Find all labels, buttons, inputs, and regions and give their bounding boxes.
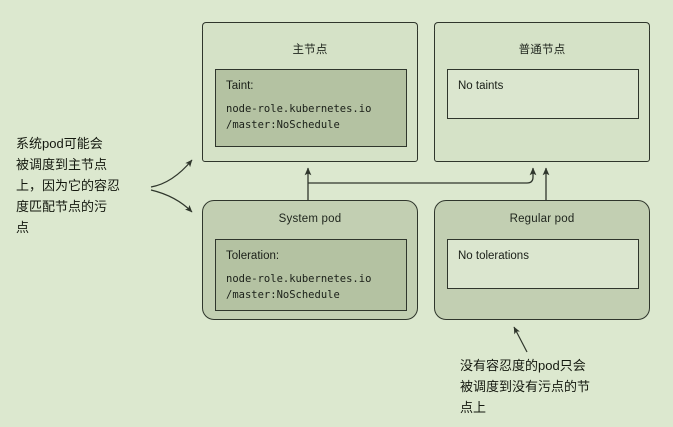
arrow-left-note-to-system-pod [151, 190, 192, 212]
taint-label: Taint: [226, 79, 396, 94]
regular-pod-title: Regular pod [435, 213, 649, 225]
toleration-value: node-role.kubernetes.io /master:NoSchedu… [226, 271, 396, 303]
regular-pod-tolerations-text: No tolerations [458, 249, 628, 264]
bottom-annotation: 没有容忍度的pod只会 被调度到没有污点的节 点上 [460, 355, 670, 418]
master-node-fold [202, 22, 418, 30]
regular-node-taints-text: No taints [458, 79, 628, 94]
system-pod-title: System pod [203, 213, 417, 225]
arrow-left-note-to-master [151, 160, 192, 187]
regular-node-fold [434, 22, 650, 30]
regular-pod-box[interactable]: Regular pod No tolerations [434, 200, 650, 320]
system-pod-toleration-panel: Toleration: node-role.kubernetes.io /mas… [215, 239, 407, 311]
regular-node-title: 普通节点 [435, 41, 649, 57]
master-node-box[interactable]: 主节点 Taint: node-role.kubernetes.io /mast… [202, 28, 418, 162]
regular-pod-tolerations-panel: No tolerations [447, 239, 639, 289]
diagram-canvas: 主节点 Taint: node-role.kubernetes.io /mast… [0, 0, 673, 427]
left-annotation: 系统pod可能会 被调度到主节点 上，因为它的容忍 度匹配节点的污 点 [16, 133, 156, 238]
taint-value: node-role.kubernetes.io /master:NoSchedu… [226, 101, 396, 133]
system-pod-box[interactable]: System pod Toleration: node-role.kuberne… [202, 200, 418, 320]
regular-node-taints-panel: No taints [447, 69, 639, 119]
regular-node-box[interactable]: 普通节点 No taints [434, 28, 650, 162]
master-node-taint-panel: Taint: node-role.kubernetes.io /master:N… [215, 69, 407, 147]
arrow-bottom-note-to-regular-pod [514, 327, 527, 352]
toleration-label: Toleration: [226, 249, 396, 264]
master-node-title: 主节点 [203, 41, 417, 57]
arrow-systempod-to-regular-node [308, 168, 533, 183]
